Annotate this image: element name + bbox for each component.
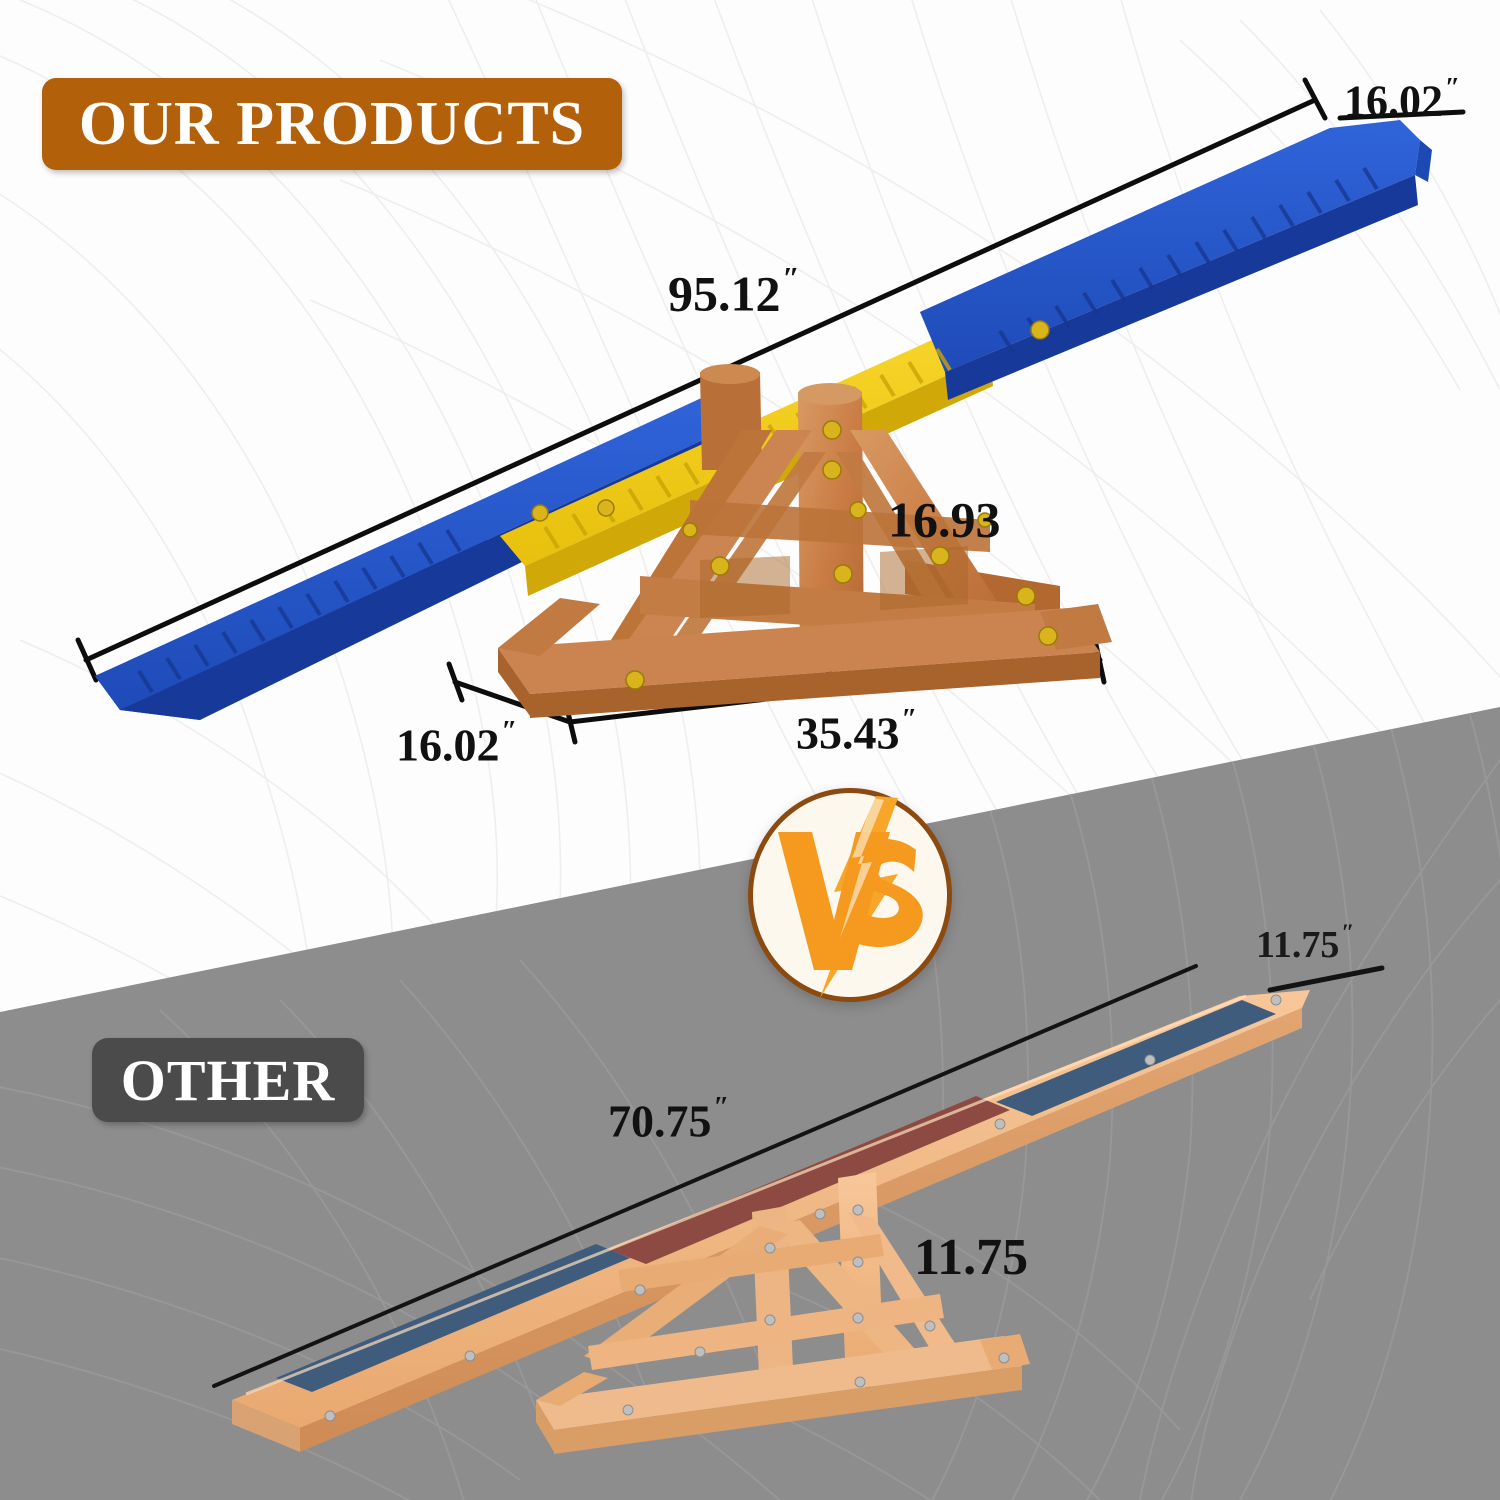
dimension-label-base-height: 16.93	[888, 488, 1003, 544]
dimension-label-base-depth: 16.02″	[396, 718, 516, 769]
our-products-badge: OUR PRODUCTS	[42, 78, 622, 170]
dimension-value: 11.75	[914, 1229, 1028, 1286]
inch-mark: ″	[502, 716, 516, 747]
vs-badge-artwork	[748, 788, 952, 1002]
other-badge: OTHER	[92, 1038, 364, 1122]
dimension-value: 11.75	[1256, 924, 1339, 966]
dimension-value: 16.02	[1344, 77, 1443, 126]
dimension-label-plank-width-top: 16.02″	[1344, 74, 1458, 124]
dimension-label-other-base-height: 11.75	[914, 1224, 1030, 1284]
inch-mark: ″	[783, 260, 798, 295]
infographic-canvas: OUR PRODUCTS OTHER 16.02″ 95.12″ 16.93 1…	[0, 0, 1500, 1500]
vs-badge	[748, 788, 952, 1002]
inch-mark: ″	[1445, 72, 1458, 102]
dimension-label-base-width: 35.43″	[796, 706, 916, 757]
inch-mark: ″	[1341, 920, 1353, 946]
other-product-seesaw-illustration	[0, 0, 1500, 1500]
dimension-value: 35.43	[796, 708, 900, 759]
inch-mark: ″	[902, 704, 916, 735]
dimension-value: 70.75	[608, 1096, 712, 1147]
inch-mark: ″	[714, 1092, 728, 1123]
dimension-value: 16.02	[396, 720, 500, 771]
dimension-value: 16.93	[888, 491, 1001, 547]
dimension-value: 95.12	[668, 265, 781, 321]
dimension-label-other-plank-length: 70.75″	[608, 1094, 728, 1145]
dimension-label-other-plank-width: 11.75″	[1256, 922, 1353, 964]
dimension-label-plank-length: 95.12″	[668, 262, 798, 318]
